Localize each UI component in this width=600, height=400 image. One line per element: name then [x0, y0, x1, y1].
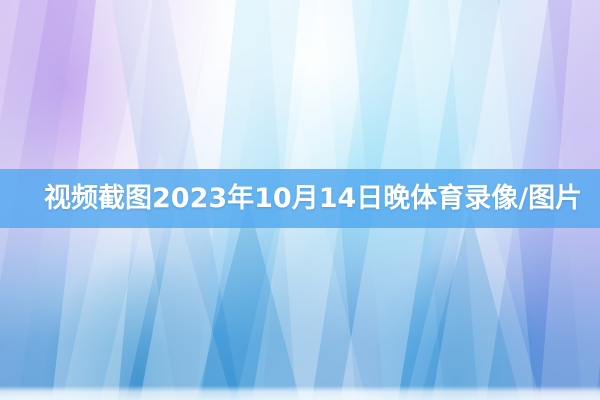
banner-image: 视频截图2023年10月14日晚体育录像/图片 — [0, 0, 600, 400]
bottom-light-strip — [0, 386, 600, 400]
caption-band: 视频截图2023年10月14日晚体育录像/图片 — [0, 169, 600, 228]
caption-text: 视频截图2023年10月14日晚体育录像/图片 — [44, 185, 582, 212]
